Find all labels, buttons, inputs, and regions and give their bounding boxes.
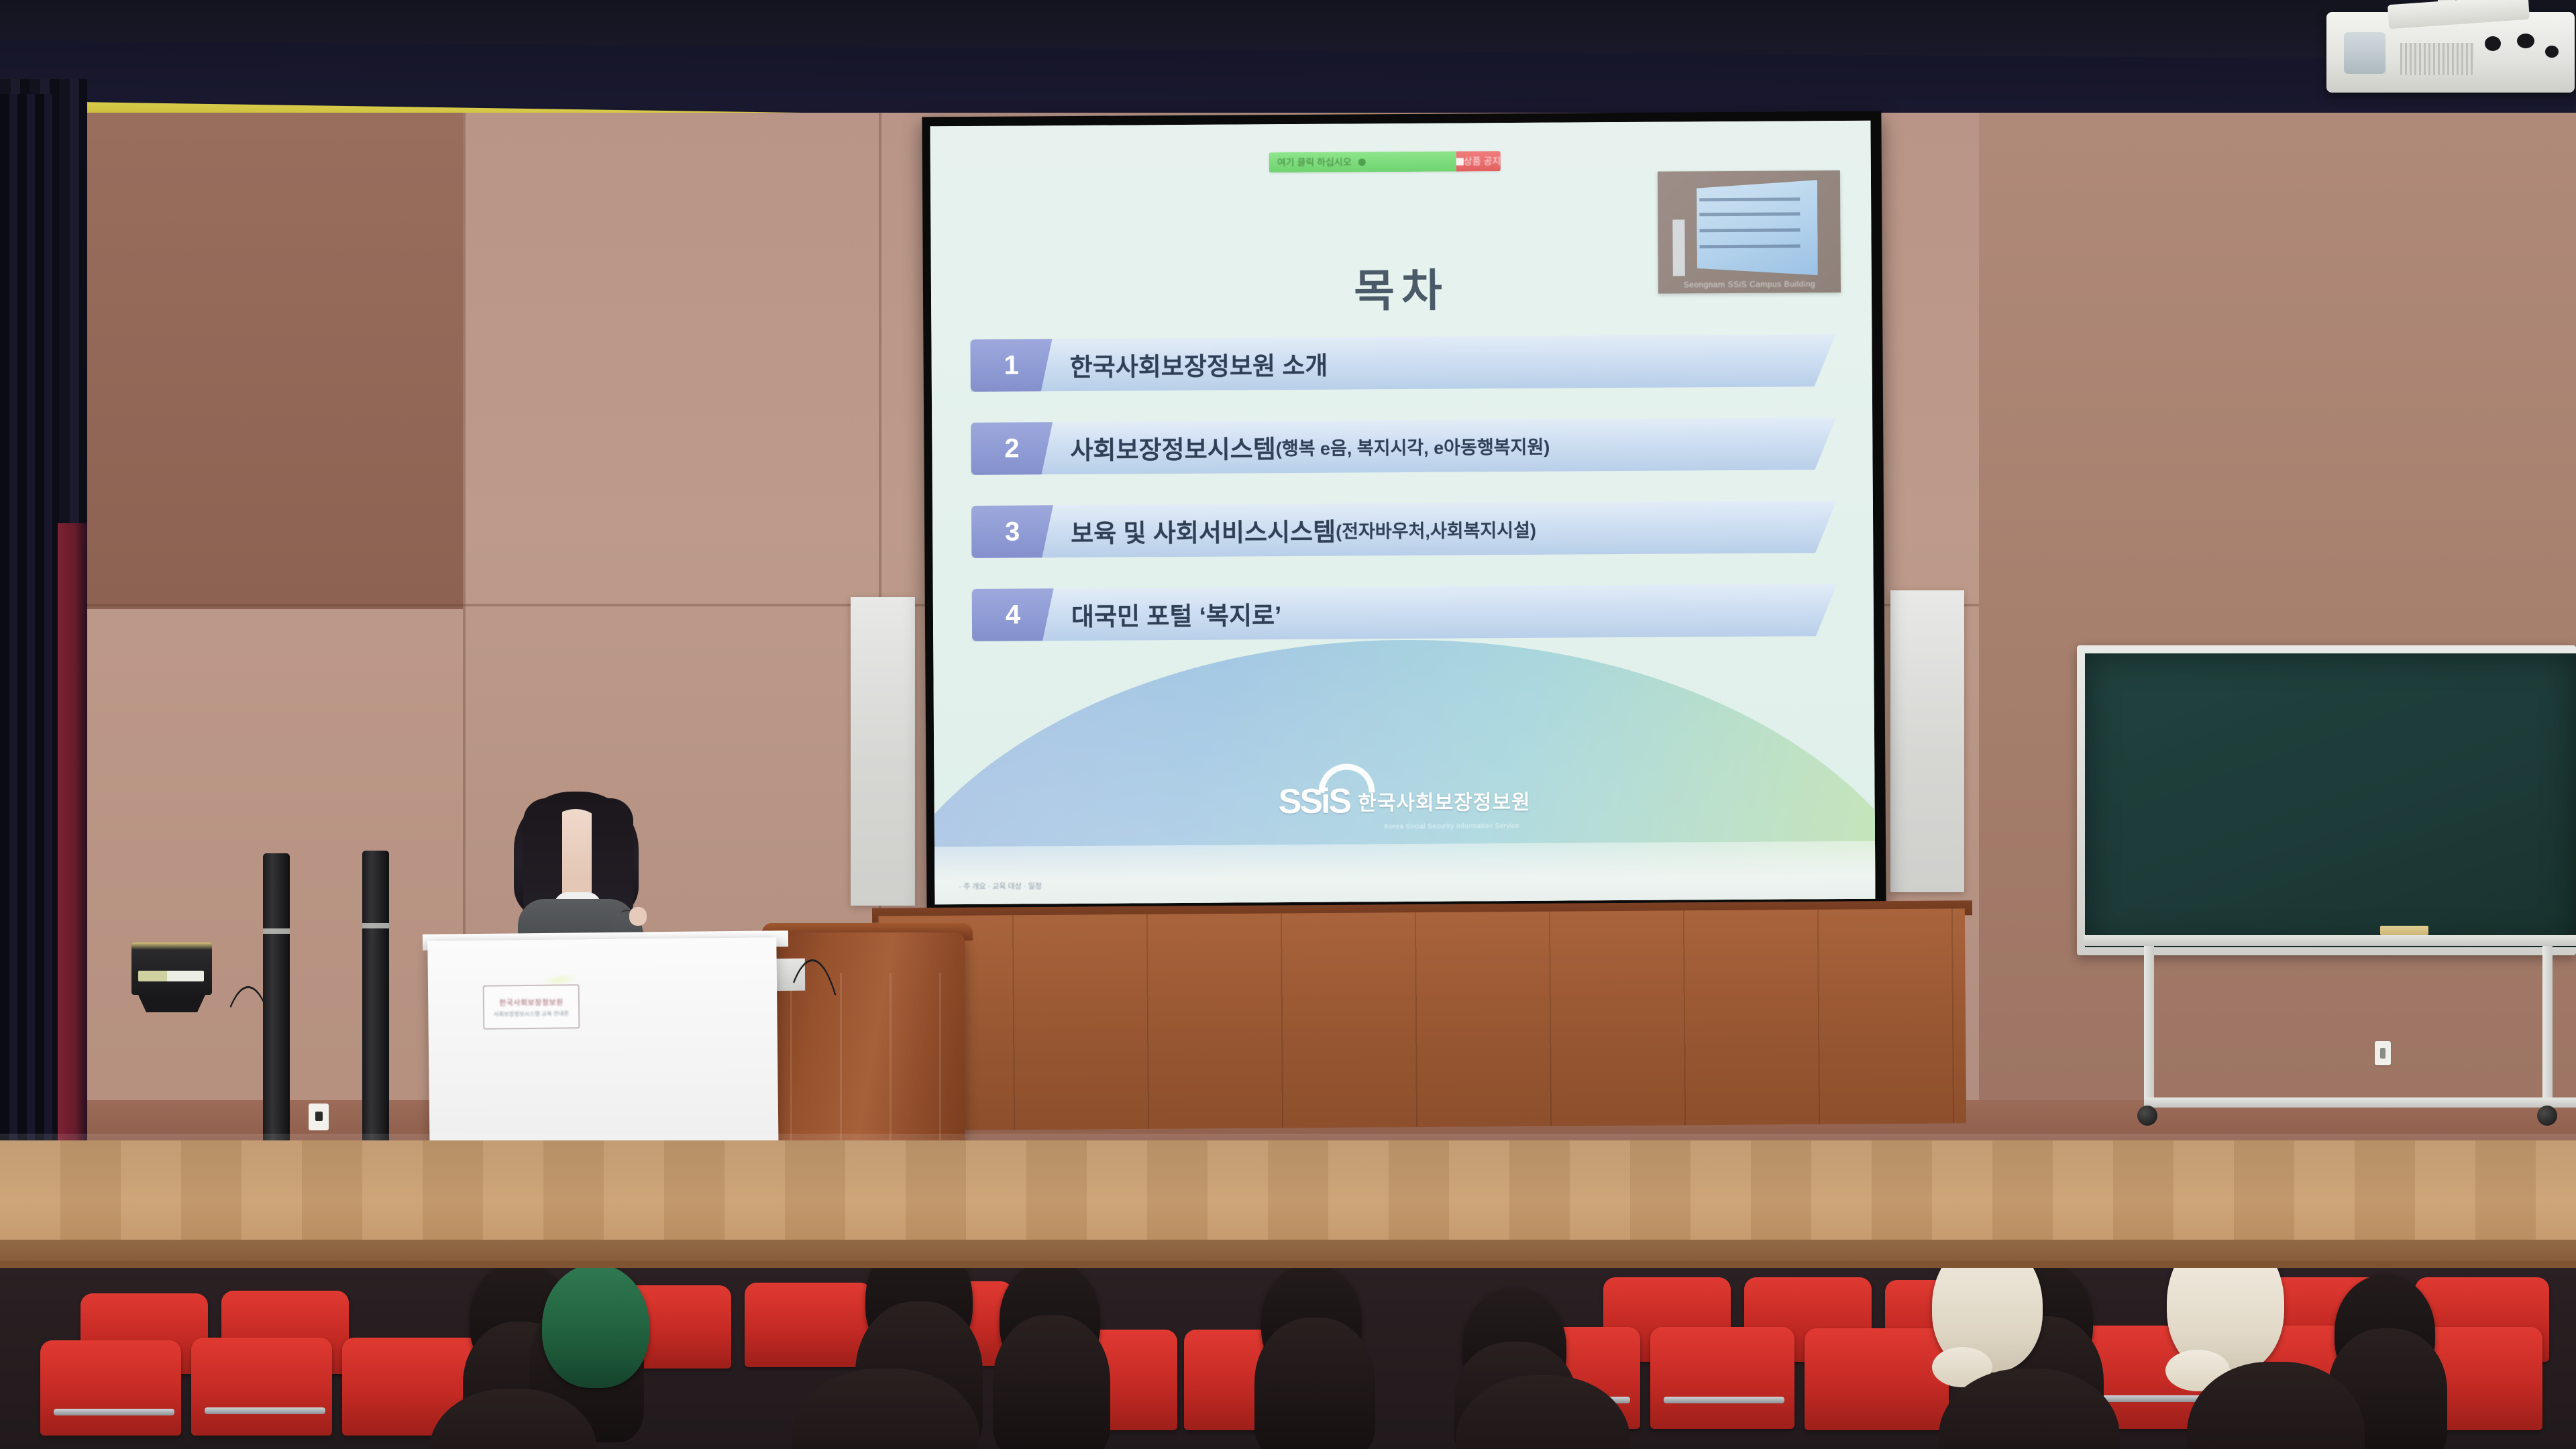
- ssis-english-name: Korea Social Security Information Servic…: [1385, 822, 1519, 830]
- seat: [191, 1338, 332, 1436]
- projector-vent: [2400, 43, 2474, 75]
- wall-panel-dark-left: [87, 113, 463, 609]
- blackboard-tray: [2084, 935, 2576, 946]
- agenda-sublabel: (행복 e음, 복지시각, e아동행복지원): [1276, 432, 1550, 460]
- blackboard-base-bar: [2144, 1097, 2576, 1108]
- banner-green-text: 여기 클릭 하십시오: [1277, 155, 1352, 169]
- audience-hair: [993, 1315, 1110, 1449]
- green-baseball-cap: [542, 1268, 649, 1388]
- slide-title: 목차: [931, 252, 1872, 323]
- seat: [1650, 1327, 1794, 1429]
- speaker-band: [263, 928, 290, 934]
- lectern-sign: 한국사회보장정보원 사회보장정보시스템 교육 안내문: [483, 984, 580, 1030]
- presenter-hand: [629, 907, 647, 926]
- slide-top-banner: 여기 클릭 하십시오 상품 공지: [1269, 151, 1501, 172]
- seat: [40, 1340, 181, 1436]
- seat: [1805, 1328, 1949, 1430]
- agenda-sublabel: (전자바우처,사회복지시설): [1336, 515, 1536, 543]
- projector-knob-3: [2545, 46, 2559, 58]
- side-panel-left: [851, 597, 915, 906]
- agenda-item-3: 3 보육 및 사회서비스시스템 (전자바우처,사회복지시설): [971, 500, 1837, 558]
- agenda-item-4: 4 대국민 포털 ‘복지로’: [972, 584, 1837, 641]
- projector-knob-1: [2485, 36, 2501, 51]
- agenda-item-2: 2 사회보장정보시스템 (행복 e음, 복지시각, e아동행복지원): [971, 417, 1836, 475]
- wall-panel-right: [1979, 113, 2576, 1132]
- agenda-label-wrap: 보육 및 사회서비스시스템 (전자바우처,사회복지시설): [1071, 502, 1536, 557]
- amplifier-bracket: [138, 995, 205, 1012]
- agenda-label: 대국민 포털 ‘복지로’: [1071, 595, 1282, 633]
- wall-outlet-right: [2375, 1041, 2391, 1065]
- banner-green-segment: 여기 클릭 하십시오: [1269, 152, 1456, 173]
- audience-hair: [1254, 1318, 1375, 1449]
- slide-footer: [934, 841, 1875, 905]
- projector-lens-icon: [2344, 32, 2385, 74]
- agenda-label: 한국사회보장정보원 소개: [1069, 345, 1328, 383]
- blackboard-wheel-right: [2537, 1106, 2557, 1126]
- agenda-item-1: 1 한국사회보장정보원 소개: [970, 334, 1835, 392]
- blackboard-wheel-left: [2137, 1106, 2157, 1126]
- blackboard-leg-left: [2144, 946, 2154, 1100]
- projector-knob-2: [2517, 34, 2534, 48]
- seat-metal-trim: [1664, 1397, 1784, 1403]
- agenda-label: 보육 및 사회서비스시스템: [1071, 512, 1336, 549]
- seat-metal-trim: [54, 1409, 174, 1415]
- banner-red-text: 상품 공지: [1464, 154, 1501, 168]
- agenda-number: 4: [972, 588, 1054, 641]
- agenda-label-wrap: 한국사회보장정보원 소개: [1069, 337, 1328, 391]
- auditorium-scene: 여기 클릭 하십시오 상품 공지 Seongnam: [0, 0, 2576, 1449]
- wall-mounted-amplifier: [131, 943, 212, 995]
- ssis-logo: SSiS 한국사회보장정보원 Korea Social Security Inf…: [934, 778, 1874, 824]
- building-band-1: [1699, 197, 1800, 201]
- ceiling-projector: [2326, 12, 2575, 93]
- agenda-list: 1 한국사회보장정보원 소개 2 사회보장정보시스템 (행복 e음, 복지시각,…: [970, 334, 1837, 672]
- side-panel-right: [1890, 590, 1964, 892]
- projector-mount: [2387, 0, 2530, 29]
- chalk-piece: [2380, 926, 2428, 935]
- blackboard-leg-right: [2542, 946, 2553, 1100]
- agenda-number: 3: [971, 505, 1053, 558]
- building-band-3: [1699, 228, 1800, 232]
- agenda-label-wrap: 사회보장정보시스템 (행복 e음, 복지시각, e아동행복지원): [1070, 419, 1550, 474]
- banner-red-segment: 상품 공지: [1456, 151, 1501, 171]
- agenda-label-wrap: 대국민 포털 ‘복지로’: [1071, 587, 1282, 641]
- blackboard-surface: [2085, 653, 2576, 947]
- stage-curtain-left-inner: [0, 94, 52, 1301]
- agenda-number: 1: [970, 339, 1052, 392]
- projection-screen: 여기 클릭 하십시오 상품 공지 Seongnam: [930, 121, 1875, 905]
- ssis-korean-name: 한국사회보장정보원: [1358, 786, 1531, 816]
- blackboard: [2077, 645, 2576, 955]
- agenda-number: 2: [971, 422, 1053, 475]
- projection-screen-frame: 여기 클릭 하십시오 상품 공지 Seongnam: [922, 111, 1886, 916]
- lectern-sign-line1: 한국사회보장정보원: [499, 996, 563, 1008]
- presentation-slide: 여기 클릭 하십시오 상품 공지 Seongnam: [930, 121, 1875, 905]
- audience-seating: [0, 1268, 2576, 1449]
- building-band-2: [1699, 212, 1800, 216]
- building-band-4: [1700, 244, 1801, 248]
- stage-wainscot: [878, 908, 1966, 1130]
- agenda-label: 사회보장정보시스템: [1070, 429, 1276, 466]
- speaker-band: [362, 923, 389, 928]
- banner-dot-icon: [1358, 158, 1366, 166]
- banner-square-icon: [1456, 158, 1464, 165]
- slide-corner-note: · 주 개요 · 교육 대상 · 일정: [959, 881, 1042, 892]
- seat: [745, 1283, 872, 1367]
- lectern-sign-line2: 사회보장정보시스템 교육 안내문: [494, 1010, 569, 1018]
- seat-metal-trim: [205, 1407, 325, 1414]
- wall-outlet-left: [309, 1104, 329, 1130]
